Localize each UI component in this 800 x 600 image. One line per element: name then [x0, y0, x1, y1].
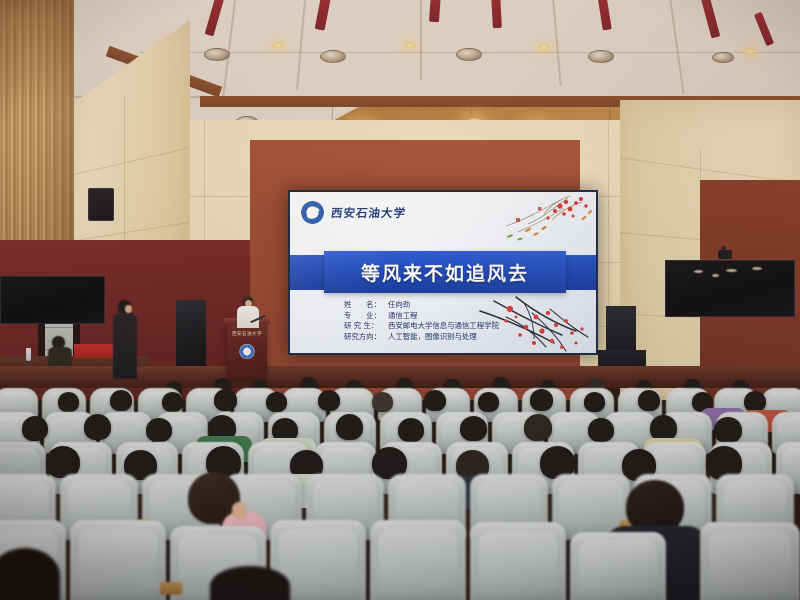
audience-hand — [232, 502, 247, 519]
audience-head — [478, 392, 499, 412]
presentation-slide: 西安石油大学 — [290, 192, 596, 353]
audience-head — [318, 390, 340, 411]
ceiling-speaker-icon — [712, 52, 734, 63]
seat-armrest — [160, 582, 182, 595]
audience-head — [530, 389, 553, 411]
auditorium-seat[interactable] — [370, 520, 466, 600]
lectern-podium: 西安石油大学 — [227, 322, 267, 378]
audience-head — [744, 391, 766, 412]
projection-screen: 西安石油大学 — [288, 190, 598, 355]
plum-blossom-top-right-decoration — [498, 192, 594, 248]
camera-icon — [718, 250, 732, 259]
water-bottle — [26, 348, 31, 361]
audience-head-foreground-center — [210, 566, 290, 600]
table-name-card — [74, 344, 116, 358]
slide-university-name: 西安石油大学 — [330, 205, 407, 221]
pa-speaker-left — [176, 300, 206, 372]
ceiling-downlight — [744, 48, 756, 55]
auditorium-seat[interactable] — [470, 522, 566, 600]
audience-head — [84, 414, 111, 440]
ceiling-downlight — [272, 42, 284, 49]
audience-head — [58, 392, 79, 412]
plum-blossom-bottom-right-decoration — [476, 291, 596, 353]
audience-head — [22, 416, 48, 441]
slide-university-header: 西安石油大学 — [300, 200, 406, 225]
ceiling-accent-strip — [491, 0, 502, 28]
ceiling-speaker-icon — [456, 48, 482, 61]
ceiling-seam — [420, 0, 422, 80]
ceiling-speaker-icon — [320, 50, 346, 63]
wall-display-right — [665, 260, 795, 317]
audience-head — [424, 390, 446, 411]
standing-attendee — [112, 300, 138, 378]
audience-head — [162, 392, 183, 412]
auditorium-seat[interactable] — [570, 532, 666, 600]
audience-head — [372, 392, 393, 412]
ceiling-speaker-icon — [204, 48, 230, 61]
audience-head — [110, 390, 132, 411]
presenter-at-podium — [237, 296, 259, 326]
audience-head — [336, 414, 363, 440]
audience-head — [398, 418, 424, 442]
audience-head — [460, 416, 487, 441]
auditorium-photo: 西安石油大学 — [0, 0, 800, 600]
wall-display-left — [0, 276, 105, 324]
audience-head — [146, 418, 172, 442]
audience-head — [266, 392, 287, 412]
ceiling-speaker-icon — [588, 50, 614, 63]
audience-head — [638, 390, 660, 411]
audience-head — [584, 392, 605, 412]
audience-head — [714, 417, 742, 443]
audience-head — [588, 418, 614, 442]
ceiling-downlight — [404, 42, 416, 49]
auditorium-seat[interactable] — [700, 522, 800, 600]
podium-university-emblem — [240, 344, 255, 359]
podium-label: 西安石油大学 — [227, 331, 267, 337]
audience-head — [524, 414, 552, 441]
wall-speaker-box — [88, 188, 114, 221]
ceiling-downlight — [538, 44, 550, 51]
xian-shiyou-university-emblem — [300, 200, 325, 225]
pa-speaker-right — [606, 306, 636, 356]
slide-title: 等风来不如追风去 — [324, 251, 566, 293]
auditorium-seat[interactable] — [70, 520, 166, 600]
audience-head — [214, 389, 237, 411]
